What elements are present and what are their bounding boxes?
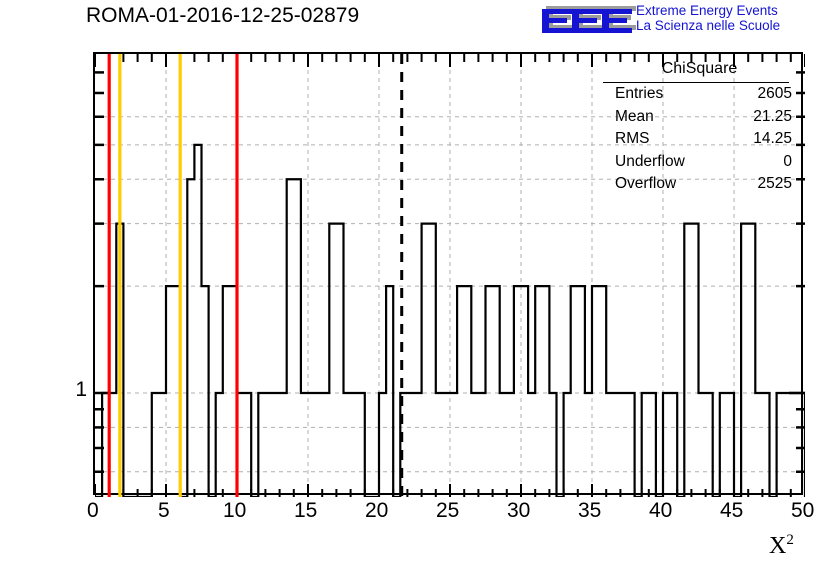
stats-row-value: 0 bbox=[783, 153, 792, 171]
x-tick-label: 25 bbox=[436, 499, 459, 523]
x-tick-label: 5 bbox=[158, 499, 170, 523]
stats-rows: Entries2605Mean21.25RMS14.25Underflow0Ov… bbox=[597, 85, 802, 198]
stats-row: Entries2605 bbox=[597, 85, 802, 108]
stats-title: ChiSquare bbox=[597, 60, 802, 78]
x-axis-label: X2 bbox=[769, 532, 794, 560]
root-canvas: ROMA-01-2016-12-25-02879 bbox=[0, 0, 836, 572]
x-axis-label-exponent: 2 bbox=[786, 532, 794, 548]
eee-logo-text: Extreme Energy Events La Scienza nelle S… bbox=[636, 3, 780, 33]
stats-row: Overflow2525 bbox=[597, 175, 802, 198]
eee-logo-line1: Extreme Energy Events bbox=[636, 3, 780, 18]
x-tick-label: 30 bbox=[507, 499, 530, 523]
x-tick-label: 50 bbox=[791, 499, 814, 523]
stats-row-value: 2605 bbox=[758, 85, 792, 103]
marker-lines bbox=[109, 54, 402, 497]
x-tick-label: 20 bbox=[365, 499, 388, 523]
x-tick-label: 45 bbox=[720, 499, 743, 523]
stats-row-key: RMS bbox=[615, 130, 649, 148]
stats-row-key: Mean bbox=[615, 108, 654, 126]
stats-row: Mean21.25 bbox=[597, 108, 802, 131]
stats-row-value: 21.25 bbox=[753, 108, 792, 126]
x-tick-label: 0 bbox=[87, 499, 99, 523]
x-tick-label: 35 bbox=[578, 499, 601, 523]
x-tick-label: 10 bbox=[223, 499, 246, 523]
stats-row-value: 14.25 bbox=[753, 130, 792, 148]
stats-row: Underflow0 bbox=[597, 153, 802, 176]
stats-row-key: Underflow bbox=[615, 153, 685, 171]
x-axis-label-base: X bbox=[769, 533, 786, 559]
statistics-box: ChiSquare Entries2605Mean21.25RMS14.25Un… bbox=[597, 60, 802, 198]
stats-row-key: Overflow bbox=[615, 175, 676, 193]
stats-row-value: 2525 bbox=[758, 175, 792, 193]
page-title: ROMA-01-2016-12-25-02879 bbox=[86, 4, 359, 28]
y-tick-label: 1 bbox=[71, 378, 87, 402]
eee-logo-line2: La Scienza nelle Scuole bbox=[636, 18, 780, 33]
x-tick-label: 40 bbox=[649, 499, 672, 523]
x-tick-label: 15 bbox=[294, 499, 317, 523]
stats-row-key: Entries bbox=[615, 85, 663, 103]
eee-logo: Extreme Energy Events La Scienza nelle S… bbox=[540, 2, 832, 36]
eee-letters-icon bbox=[540, 2, 640, 34]
stats-divider bbox=[603, 82, 789, 83]
stats-row: RMS14.25 bbox=[597, 130, 802, 153]
